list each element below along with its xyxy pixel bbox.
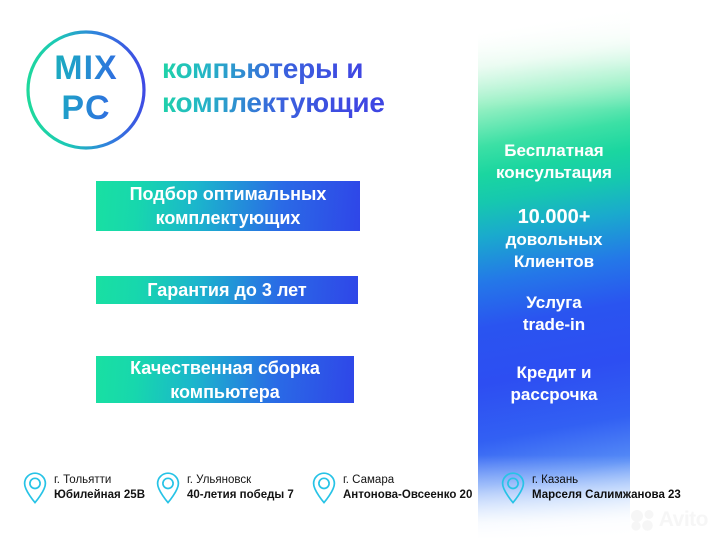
page-title: компьютеры и комплектующие [162,52,472,120]
promo-1-line-1: Бесплатная [478,140,630,162]
logo-line-mix: MIX [24,48,148,88]
headline-line-2: комплектующие [162,86,472,120]
promo-3-line-2: trade-in [478,314,630,336]
feature-badge-quality-build: Качественная сборка компьютера [96,356,354,403]
promo-4-line-2: рассрочка [478,384,630,406]
logo-line-pc: PC [24,88,148,128]
address-city: г. Казань [532,473,681,488]
address-city: г. Ульяновск [187,473,294,488]
address-text: г. Самара Антонова-Овсеенко 20 [343,473,472,503]
promo-3-line-1: Услуга [478,292,630,314]
map-pin-icon [155,471,181,505]
headline-line-1: компьютеры и [162,52,472,86]
brand-logo: MIX PC [24,28,148,152]
feature-3-line-2: компьютера [130,380,320,404]
promo-trade-in: Услуга trade-in [478,292,630,336]
address-item-samara: г. Самара Антонова-Овсеенко 20 [311,462,472,514]
promo-2-line-2: довольных [478,229,630,251]
feature-badge-warranty: Гарантия до 3 лет [96,276,358,304]
map-pin-icon [500,471,526,505]
advertisement-banner: MIX PC компьютеры и комплектующие Подбор… [0,0,720,540]
address-item-tolyatti: г. Тольятти Юбилейная 25В [22,462,145,514]
promo-2-line-1: 10.000+ [478,205,630,229]
feature-3-line-1: Качественная сборка [130,356,320,380]
feature-2-line-1: Гарантия до 3 лет [147,278,306,302]
address-item-ulyanovsk: г. Ульяновск 40-летия победы 7 [155,462,294,514]
address-text: г. Ульяновск 40-летия победы 7 [187,473,294,503]
address-street: 40-летия победы 7 [187,488,294,503]
address-street: Антонова-Овсеенко 20 [343,488,472,503]
feature-1-line-2: комплектующих [130,206,327,230]
address-city: г. Тольятти [54,473,145,488]
feature-badge-optimal-parts: Подбор оптимальных комплектующих [96,181,360,231]
logo-wordmark: MIX PC [24,48,148,128]
address-text: г. Казань Марселя Салимжанова 23 [532,473,681,503]
feature-1-line-1: Подбор оптимальных [130,182,327,206]
promo-happy-clients: 10.000+ довольных Клиентов [478,205,630,273]
address-street: Марселя Салимжанова 23 [532,488,681,503]
promo-free-consultation: Бесплатная консультация [478,140,630,184]
address-text: г. Тольятти Юбилейная 25В [54,473,145,503]
promo-4-line-1: Кредит и [478,362,630,384]
map-pin-icon [311,471,337,505]
promo-1-line-2: консультация [478,162,630,184]
address-city: г. Самара [343,473,472,488]
address-item-kazan: г. Казань Марселя Салимжанова 23 [500,462,681,514]
address-street: Юбилейная 25В [54,488,145,503]
map-pin-icon [22,471,48,505]
promo-2-line-3: Клиентов [478,251,630,273]
promo-credit-installment: Кредит и рассрочка [478,362,630,406]
address-bar: г. Тольятти Юбилейная 25В г. Ульяновск 4… [0,462,720,514]
